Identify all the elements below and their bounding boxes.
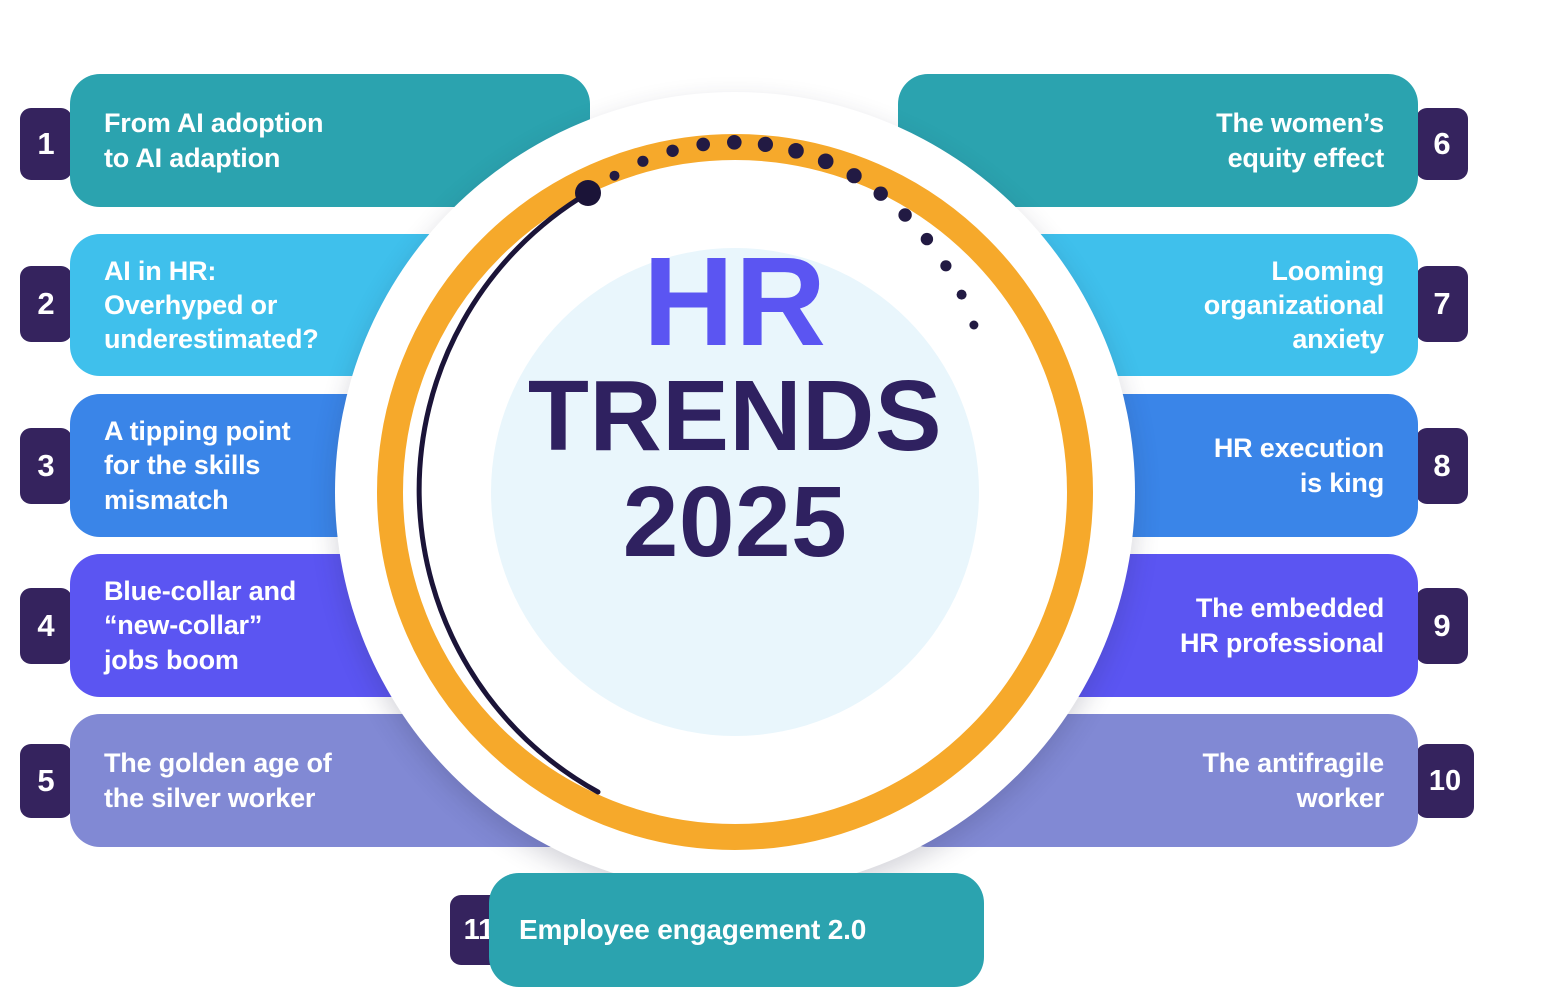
trend-number-8: 8 xyxy=(1433,448,1450,484)
trend-label-6: The women’s equity effect xyxy=(1216,106,1384,174)
trend-label-7: Looming organizational anxiety xyxy=(1204,254,1384,356)
trend-badge-10: 10 xyxy=(1416,744,1474,818)
trend-number-7: 7 xyxy=(1433,286,1450,322)
trend-label-3: A tipping point for the skills mismatch xyxy=(104,414,290,516)
trend-number-4: 4 xyxy=(37,608,54,644)
trend-badge-6: 6 xyxy=(1416,108,1468,180)
trend-badge-8: 8 xyxy=(1416,428,1468,504)
trend-number-10: 10 xyxy=(1429,765,1461,798)
trend-label-9: The embedded HR professional xyxy=(1180,591,1384,659)
arc-start-dot xyxy=(575,180,601,206)
trend-badge-9: 9 xyxy=(1416,588,1468,664)
trend-badge-4: 4 xyxy=(20,588,72,664)
trend-badge-3: 3 xyxy=(20,428,72,504)
trend-label-2: AI in HR: Overhyped or underestimated? xyxy=(104,254,319,356)
trend-badge-1: 1 xyxy=(20,108,72,180)
trend-label-10: The antifragile worker xyxy=(1202,746,1384,814)
center-circle-graphic: HR TRENDS 2025 xyxy=(335,92,1135,892)
trend-label-11: Employee engagement 2.0 xyxy=(519,912,866,947)
title-hr: HR xyxy=(335,242,1135,363)
trend-badge-2: 2 xyxy=(20,266,72,342)
infographic-canvas: 1 From AI adoption to AI adaption 2 AI i… xyxy=(0,0,1548,987)
trend-label-4: Blue-collar and “new-collar” jobs boom xyxy=(104,574,296,676)
trend-number-2: 2 xyxy=(37,286,54,322)
trend-number-6: 6 xyxy=(1433,126,1450,162)
trend-number-1: 1 xyxy=(37,126,54,162)
trend-number-9: 9 xyxy=(1433,608,1450,644)
trend-label-1: From AI adoption to AI adaption xyxy=(104,106,323,174)
title-year: 2025 xyxy=(335,469,1135,575)
trend-badge-7: 7 xyxy=(1416,266,1468,342)
trend-number-5: 5 xyxy=(37,763,54,799)
trend-number-3: 3 xyxy=(37,448,54,484)
center-title-block: HR TRENDS 2025 xyxy=(335,242,1135,575)
trend-bar-11[interactable]: Employee engagement 2.0 xyxy=(489,873,984,987)
trend-label-8: HR execution is king xyxy=(1214,431,1384,499)
trend-label-5: The golden age of the silver worker xyxy=(104,746,332,814)
trend-badge-5: 5 xyxy=(20,744,72,818)
title-trends: TRENDS xyxy=(335,363,1135,469)
